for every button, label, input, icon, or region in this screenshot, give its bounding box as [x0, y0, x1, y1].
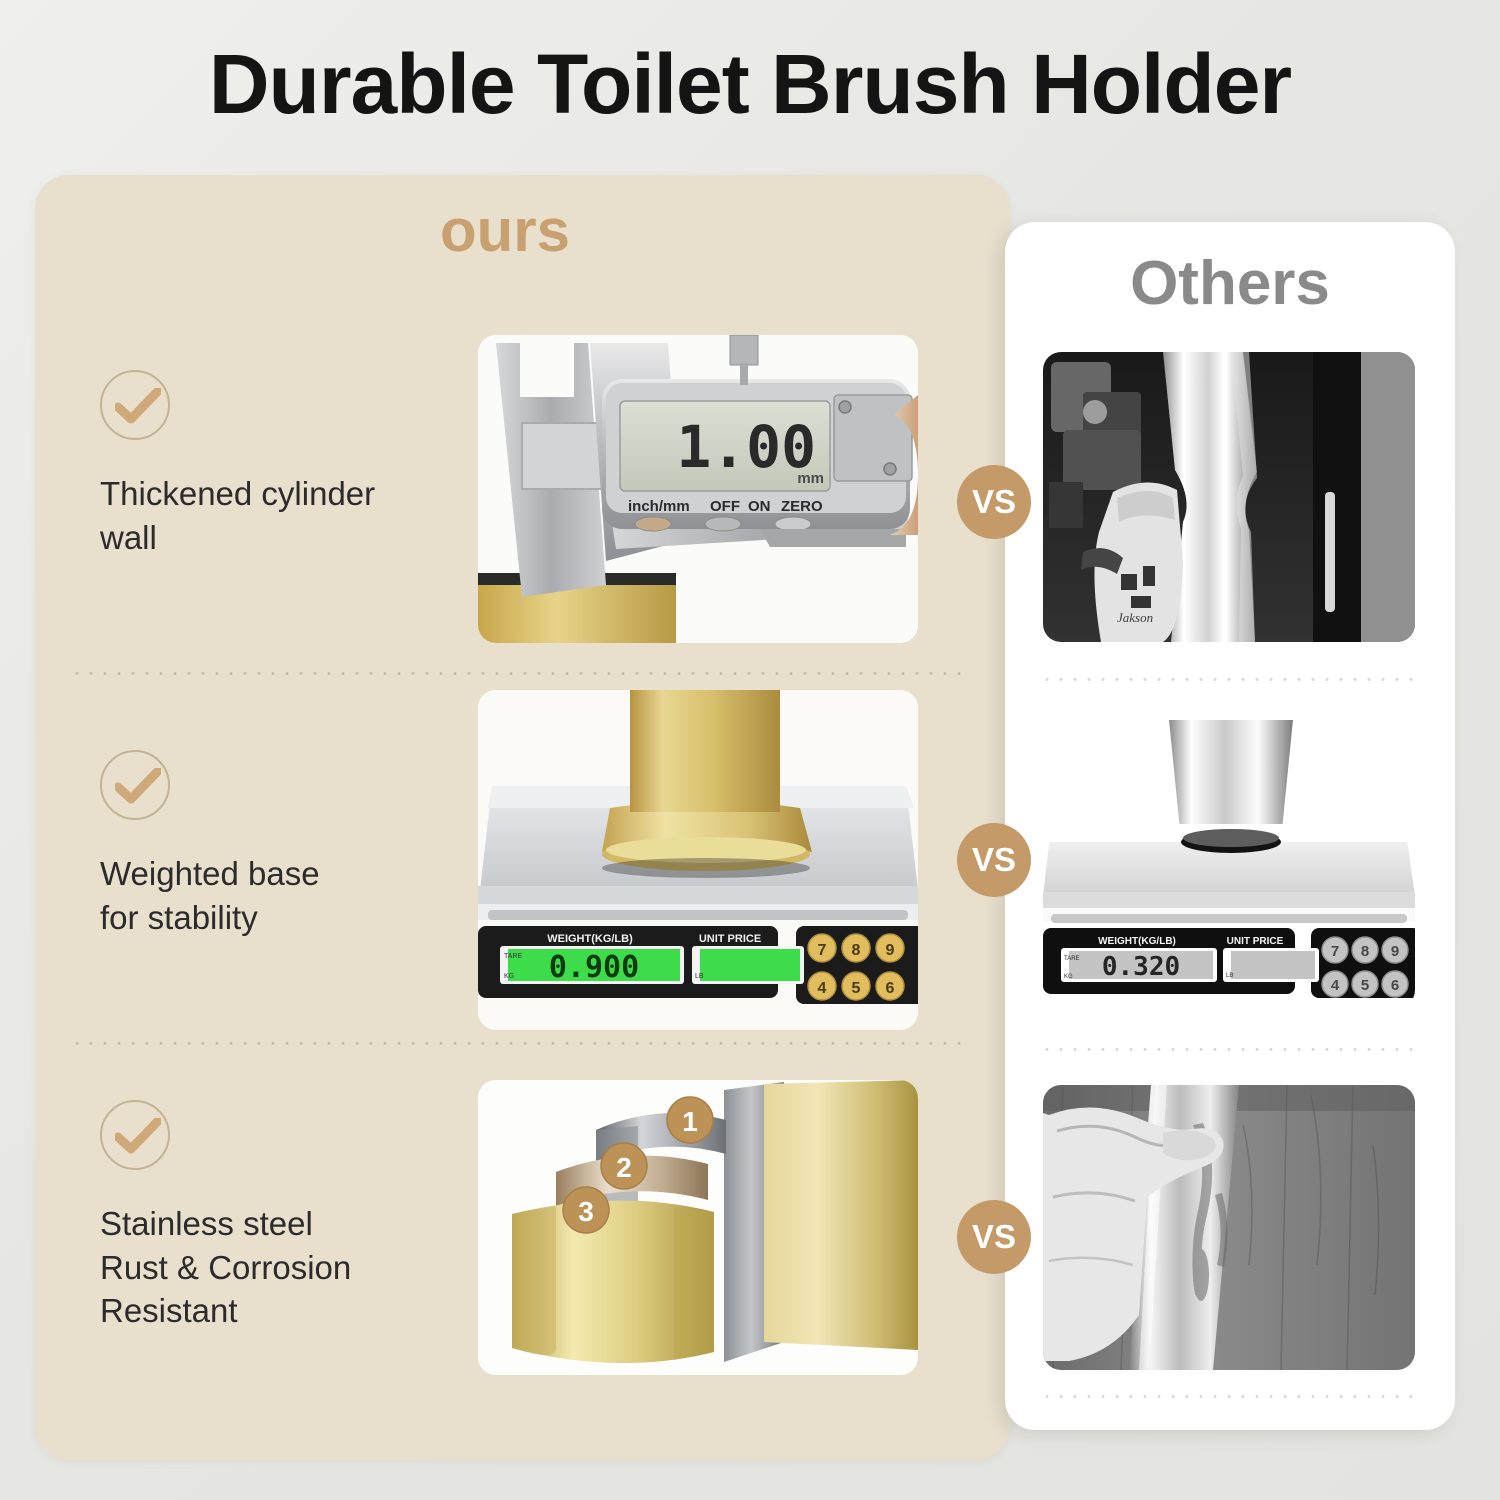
svg-text:KG: KG — [504, 973, 514, 980]
keypad-key-7: 7 — [818, 942, 827, 959]
feature-3-label: Stainless steel Rust & Corrosion Resista… — [100, 1202, 440, 1333]
others-scale-weight-label: WEIGHT(KG/LB) — [1098, 936, 1176, 947]
comparison-row-2: Weighted base for stability — [0, 690, 1500, 1030]
svg-text:3: 3 — [578, 1196, 594, 1227]
divider-ours-1 — [70, 672, 970, 675]
caliper-off-label: OFF — [710, 498, 740, 515]
others-column-label: Others — [1005, 248, 1455, 319]
others-photo-1: Jakson — [1043, 352, 1415, 642]
vs-badge-2: VS — [957, 823, 1031, 897]
keypad-key-8: 8 — [852, 942, 861, 959]
feature-3: Stainless steel Rust & Corrosion Resista… — [100, 1100, 440, 1333]
layer-badge-2: 2 — [601, 1143, 647, 1189]
caliper-reading: 1.00 — [676, 413, 816, 481]
ours-column-label: ours — [35, 196, 975, 265]
svg-text:LB: LB — [695, 973, 704, 980]
caliper-on-label: ON — [748, 498, 771, 515]
check-icon — [100, 1100, 170, 1170]
others-keypad-key-4: 4 — [1331, 977, 1340, 994]
svg-text:1: 1 — [682, 1106, 698, 1137]
keypad-key-5: 5 — [852, 980, 861, 997]
divider-others-2 — [1040, 1048, 1420, 1051]
check-glyph — [115, 1118, 161, 1156]
others-scale-weight-value: 0.320 — [1102, 952, 1180, 982]
others-keypad-key-6: 6 — [1391, 977, 1399, 994]
check-icon — [100, 750, 170, 820]
ours-photo-2: WEIGHT(KG/LB) 0.900 TARE KG UNIT PRICE L… — [478, 690, 918, 1030]
scale-weight-value: 0.900 — [549, 950, 639, 985]
divider-others-3 — [1040, 1395, 1420, 1398]
keypad-key-6: 6 — [886, 980, 895, 997]
svg-text:Jakson: Jakson — [1117, 610, 1153, 625]
keypad-key-4: 4 — [818, 980, 827, 997]
page-title: Durable Toilet Brush Holder — [0, 36, 1500, 133]
divider-others-1 — [1040, 678, 1420, 681]
caliper-mode-label: inch/mm — [628, 498, 690, 515]
feature-2: Weighted base for stability — [100, 750, 440, 939]
others-photo-2: WEIGHT(KG/LB) 0.320 TARE KG UNIT PRICE L… — [1043, 720, 1415, 1008]
caliper-unit: mm — [797, 470, 824, 487]
check-glyph — [115, 388, 161, 426]
caliper-zero-label: ZERO — [781, 498, 823, 515]
svg-text:2: 2 — [616, 1152, 632, 1183]
check-glyph — [115, 768, 161, 806]
others-keypad-key-9: 9 — [1391, 943, 1399, 960]
others-keypad-key-7: 7 — [1331, 943, 1339, 960]
feature-1-label: Thickened cylinder wall — [100, 472, 440, 559]
comparison-row-1: Thickened cylinder wall — [0, 330, 1500, 650]
vs-badge-3: VS — [957, 1200, 1031, 1274]
ours-photo-1: 1.00 mm inch/mm OFF ON ZERO — [478, 335, 918, 643]
svg-text:TARE: TARE — [504, 953, 522, 960]
svg-text:KG: KG — [1064, 974, 1073, 980]
svg-text:LB: LB — [1226, 973, 1233, 979]
divider-ours-2 — [70, 1042, 970, 1045]
ours-photo-3: 1 2 3 — [478, 1080, 918, 1375]
layer-badge-1: 1 — [667, 1097, 713, 1143]
scale-unit-price-label: UNIT PRICE — [699, 933, 761, 945]
comparison-row-3: Stainless steel Rust & Corrosion Resista… — [0, 1075, 1500, 1375]
feature-2-label: Weighted base for stability — [100, 852, 440, 939]
layer-badge-3: 3 — [563, 1187, 609, 1233]
others-keypad-key-5: 5 — [1361, 977, 1369, 994]
check-icon — [100, 370, 170, 440]
others-photo-3 — [1043, 1085, 1415, 1370]
keypad-key-9: 9 — [886, 942, 895, 959]
svg-text:TARE: TARE — [1064, 956, 1080, 962]
feature-1: Thickened cylinder wall — [100, 370, 440, 559]
scale-weight-label: WEIGHT(KG/LB) — [547, 933, 633, 945]
others-scale-unit-price-label: UNIT PRICE — [1227, 936, 1284, 947]
vs-badge-1: VS — [957, 465, 1031, 539]
others-keypad-key-8: 8 — [1361, 943, 1369, 960]
